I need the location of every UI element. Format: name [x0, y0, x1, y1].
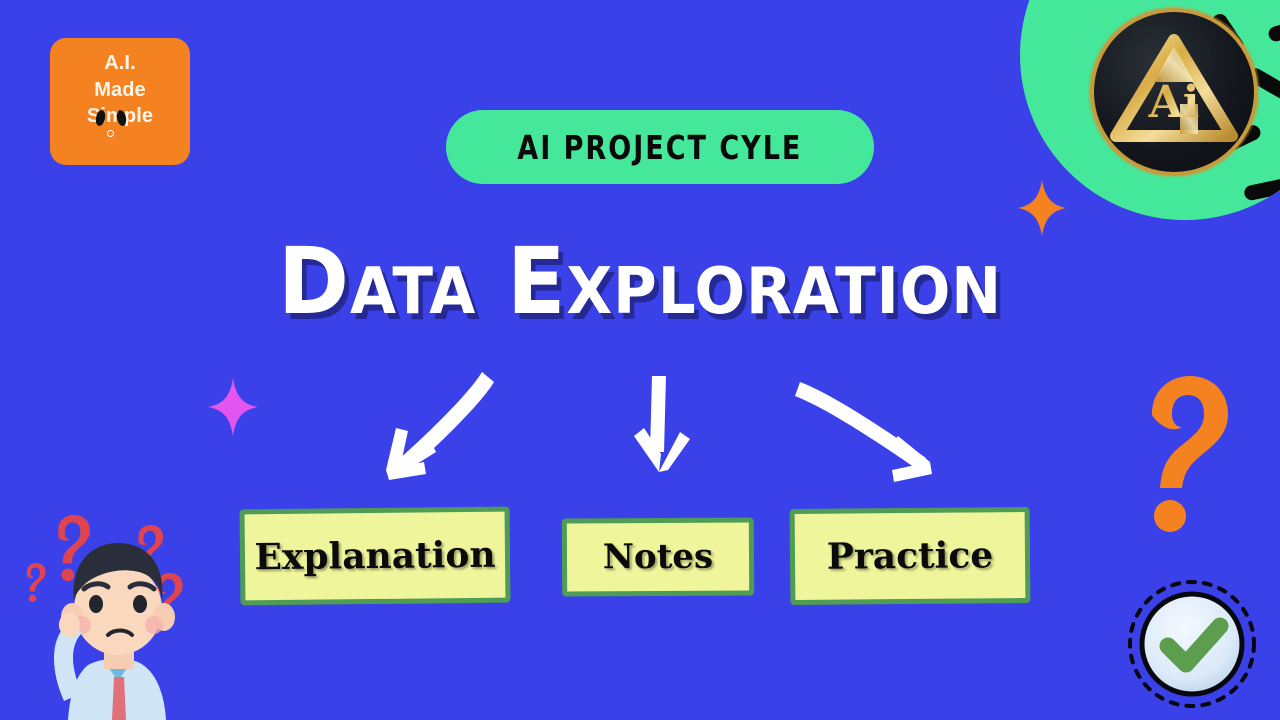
- section-badge-label: AI PROJECT CYLE: [517, 128, 802, 167]
- dash-mark: [1267, 16, 1280, 43]
- boy-tie: [112, 677, 126, 720]
- label-box-explanation-text: Explanation: [254, 534, 496, 579]
- boy-cheek: [145, 616, 163, 634]
- check-badge-icon: [1126, 578, 1258, 710]
- arrow-to-notes: [634, 376, 690, 472]
- page-title: Data Exploration: [45, 228, 1235, 335]
- confused-person-illustration: [8, 505, 228, 720]
- arrow-to-practice: [795, 382, 932, 482]
- boy-eye: [133, 595, 147, 613]
- brand-speech-bubble: A.I. Made Simple: [50, 38, 190, 165]
- speech-bubble-tail: [80, 124, 109, 156]
- label-box-practice[interactable]: Practice: [790, 507, 1031, 605]
- dash-mark: [1243, 177, 1280, 201]
- section-badge: AI PROJECT CYLE: [446, 110, 874, 184]
- bubble-line-1: A.I.: [50, 50, 190, 77]
- label-box-notes[interactable]: Notes: [562, 517, 754, 596]
- sparkle-icon: [208, 378, 258, 436]
- slide-canvas: Ai A.I. Made Simple AI PROJECT CYLE Data…: [0, 0, 1280, 720]
- question-mark-icon: [1118, 368, 1238, 538]
- arrow-to-explanation: [386, 372, 494, 480]
- label-box-practice-text: Practice: [827, 534, 994, 577]
- svg-text:Ai: Ai: [1148, 77, 1200, 128]
- bubble-mouth-icon: [107, 130, 114, 137]
- brand-logo-badge[interactable]: Ai: [1090, 8, 1258, 176]
- label-box-notes-text: Notes: [603, 537, 713, 578]
- bubble-line-2: Made: [50, 77, 190, 104]
- ai-pyramid-icon: Ai: [1094, 12, 1254, 172]
- boy-eye: [89, 595, 103, 613]
- sparkle-icon: [1018, 180, 1066, 236]
- label-box-explanation[interactable]: Explanation: [240, 507, 511, 606]
